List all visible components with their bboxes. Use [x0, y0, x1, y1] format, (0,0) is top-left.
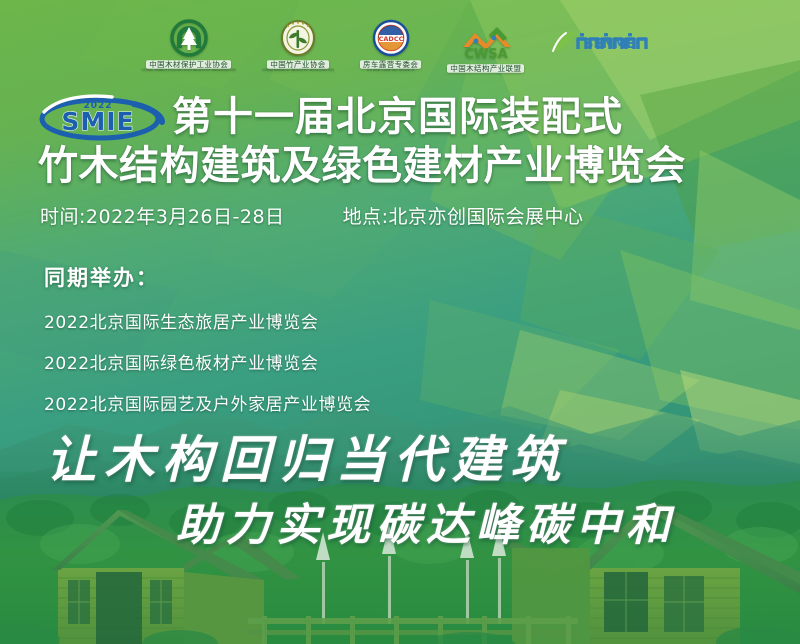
title-line-2: 竹木结构建筑及绿色建材产业博览会	[38, 144, 778, 189]
bamboo-medal-icon	[277, 19, 319, 59]
round-badge-icon: CADCC	[370, 19, 412, 59]
house-roof-icon: CWSA	[455, 23, 517, 63]
alliance-acronym: CWSA	[464, 47, 507, 62]
senmei-text: SENMEI	[585, 37, 641, 52]
logo-bamboo-industry-association[interactable]: 中国竹产业协会 CHINA BAMBOO INDUSTRY ASSOCIATIO…	[262, 11, 334, 73]
event-meta-row: 时间:2022年3月26日-28日 地点:北京亦创国际会展中心	[40, 202, 583, 229]
logo-label-en: CHINA TIMBER PROTECTION INDUSTRY ASSOCIA…	[142, 69, 236, 73]
slogan-line-2: 助力实现碳达峰碳中和	[176, 489, 676, 553]
logo-label-en: CHINA BAMBOO INDUSTRY ASSOCIATION	[262, 69, 334, 73]
smie-logo: 2022 SMIE	[38, 92, 166, 142]
logo-china-timber-protection-industry-association[interactable]: 中国木材保护工业协会 CHINA TIMBER PROTECTION INDUS…	[142, 11, 236, 73]
exhibition-poster: 中国木材保护工业协会 CHINA TIMBER PROTECTION INDUS…	[0, 0, 800, 644]
headline-block: 2022 SMIE 第十一届北京国际装配式 竹木结构建筑及绿色建材产业博览会	[38, 92, 778, 189]
logo-label-cn: 中国木材保护工业协会	[146, 60, 231, 69]
association-logo-strip: 中国木材保护工业协会 CHINA TIMBER PROTECTION INDUS…	[0, 6, 800, 78]
concurrent-item: 2022北京国际园艺及户外家居产业博览会	[44, 390, 371, 415]
smie-text: SMIE	[61, 107, 134, 136]
pine-tree-shield-icon	[167, 19, 211, 59]
smie-logo-svg: 2022 SMIE	[38, 92, 166, 142]
concurrent-item: 2022北京国际绿色板材产业博览会	[44, 349, 371, 374]
logo-label-en: RV AND CAMPING BRANCH	[367, 69, 414, 73]
logo-label-cn: 中国竹产业协会	[267, 60, 328, 69]
event-venue: 地点:北京亦创国际会展中心	[343, 202, 584, 229]
badge-acronym: CADCC	[378, 35, 403, 43]
concurrent-heading: 同期举办：	[44, 262, 371, 292]
concurrent-item: 2022北京国际生态旅居产业博览会	[44, 308, 371, 333]
logo-rv-camping-committee[interactable]: CADCC 房车露营专委会 RV AND CAMPING BRANCH	[360, 11, 421, 73]
concurrent-events-block: 同期举办： 2022北京国际生态旅居产业博览会 2022北京国际绿色板材产业博览…	[44, 262, 371, 415]
slogan-line-1: 让木构回归当代建筑	[46, 420, 568, 492]
logo-label-cn: 房车露营专委会	[360, 60, 421, 69]
logo-senmei-wordmark[interactable]: SENMEI	[550, 19, 658, 65]
logo-china-wood-structure-industry-alliance[interactable]: CWSA 中国木结构产业联盟	[447, 11, 524, 73]
event-date: 时间:2022年3月26日-28日	[40, 202, 285, 229]
logo-label-cn: 中国木结构产业联盟	[447, 64, 524, 73]
title-line-1: 第十一届北京国际装配式	[172, 95, 623, 140]
leaf-sprout-icon: SENMEI	[550, 25, 658, 59]
